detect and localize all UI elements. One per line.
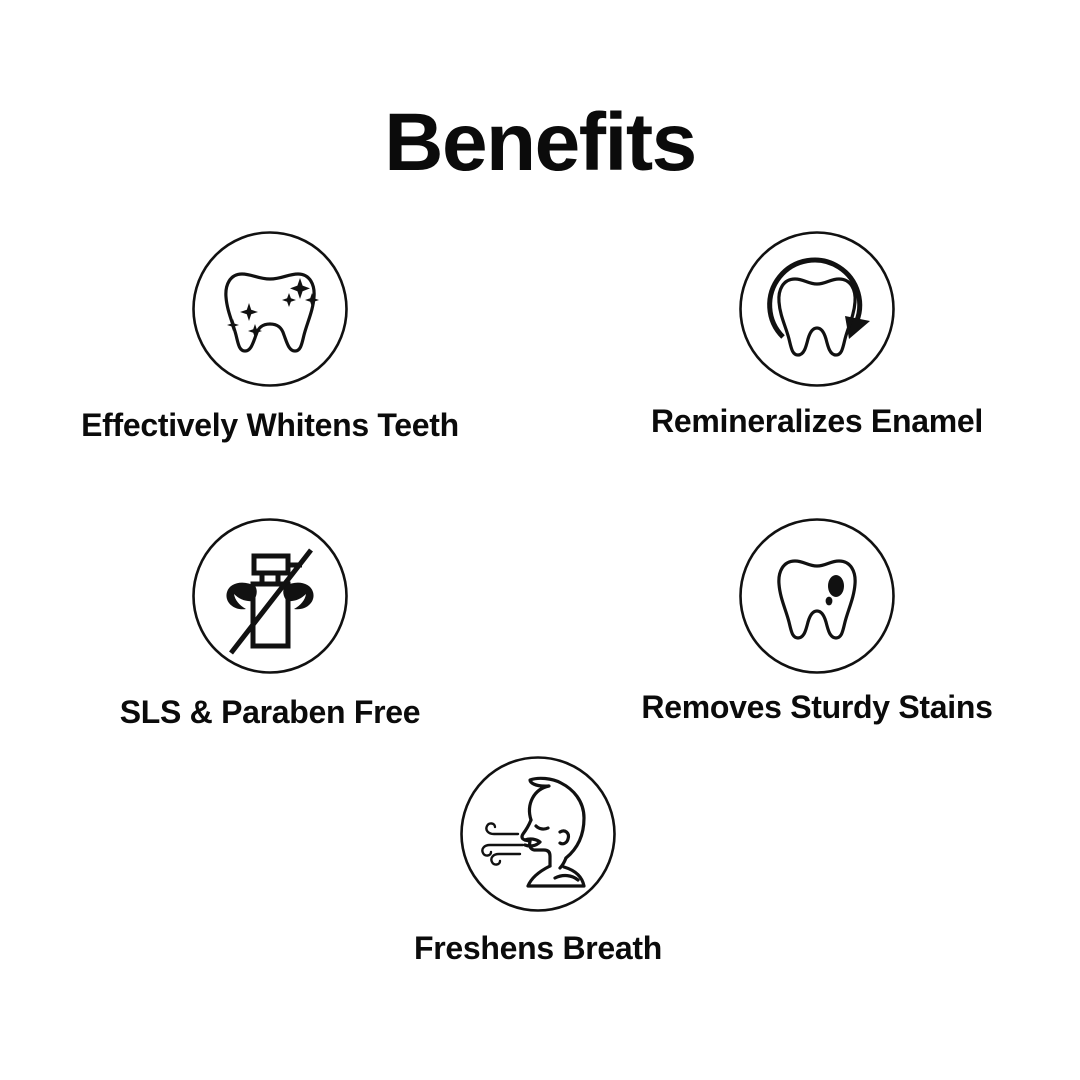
benefit-item-remineralizes-enamel: Remineralizes Enamel — [597, 231, 1037, 441]
benefit-item-effectively-whitens-teeth: Effectively Whitens Teeth — [50, 231, 490, 445]
benefit-label: SLS & Paraben Free — [50, 692, 490, 732]
benefit-item-sls-paraben-free: SLS & Paraben Free — [50, 518, 490, 732]
benefit-label: Remineralizes Enamel — [597, 401, 1037, 441]
bottle-leaves-no-slash-icon — [192, 518, 348, 674]
benefit-label: Effectively Whitens Teeth — [50, 405, 490, 445]
benefits-infographic: Benefits Effectively Whitens Teeth — [0, 0, 1080, 1080]
face-blowing-breath-icon — [460, 756, 616, 912]
benefit-item-removes-sturdy-stains: Removes Sturdy Stains — [597, 518, 1037, 727]
tooth-refresh-arrow-icon — [739, 231, 895, 387]
tooth-stain-icon — [739, 518, 895, 674]
page-title: Benefits — [0, 95, 1080, 191]
benefit-label: Freshens Breath — [318, 928, 758, 968]
benefit-label: Removes Sturdy Stains — [597, 687, 1037, 727]
benefit-item-freshens-breath: Freshens Breath — [318, 756, 758, 968]
tooth-sparkle-icon — [192, 231, 348, 387]
